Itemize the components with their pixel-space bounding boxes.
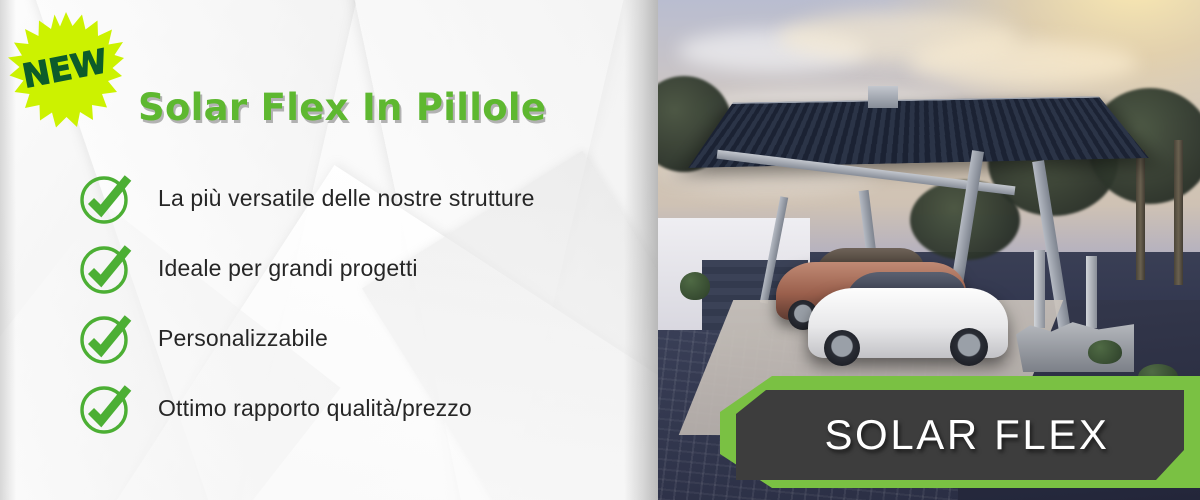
- shrub: [1138, 364, 1178, 390]
- page-title: Solar Flex In Pillole: [138, 86, 546, 129]
- cloud: [908, 40, 1138, 86]
- potted-plant: [680, 272, 710, 300]
- list-item: La più versatile delle nostre strutture: [78, 163, 638, 233]
- product-photo: SOLAR FLEX: [658, 0, 1200, 500]
- palm-trunk: [1174, 140, 1183, 285]
- shrub: [1088, 340, 1122, 364]
- ev-charger-post: [1034, 250, 1045, 328]
- list-item: Ideale per grandi progetti: [78, 233, 638, 303]
- ev-charger-post: [1086, 256, 1097, 328]
- check-circle-icon: [78, 172, 130, 224]
- check-circle-icon: [78, 312, 130, 364]
- list-item-label: Ideale per grandi progetti: [158, 255, 418, 282]
- list-item-label: Ottimo rapporto qualità/prezzo: [158, 395, 472, 422]
- new-badge: NEW: [8, 10, 124, 128]
- feature-list: La più versatile delle nostre strutture …: [78, 163, 638, 443]
- check-circle-icon: [78, 242, 130, 294]
- car-wheel: [950, 328, 988, 366]
- canopy-beam: [868, 86, 898, 108]
- car-wheel: [824, 330, 860, 366]
- check-circle-icon: [78, 382, 130, 434]
- promo-banner: NEW Solar Flex In Pillole La più versati…: [0, 0, 1200, 500]
- list-item: Personalizzabile: [78, 303, 638, 373]
- list-item: Ottimo rapporto qualità/prezzo: [78, 373, 638, 443]
- shrub: [1046, 380, 1078, 402]
- palm-trunk: [1136, 150, 1145, 280]
- list-item-label: Personalizzabile: [158, 325, 328, 352]
- list-item-label: La più versatile delle nostre strutture: [158, 185, 535, 212]
